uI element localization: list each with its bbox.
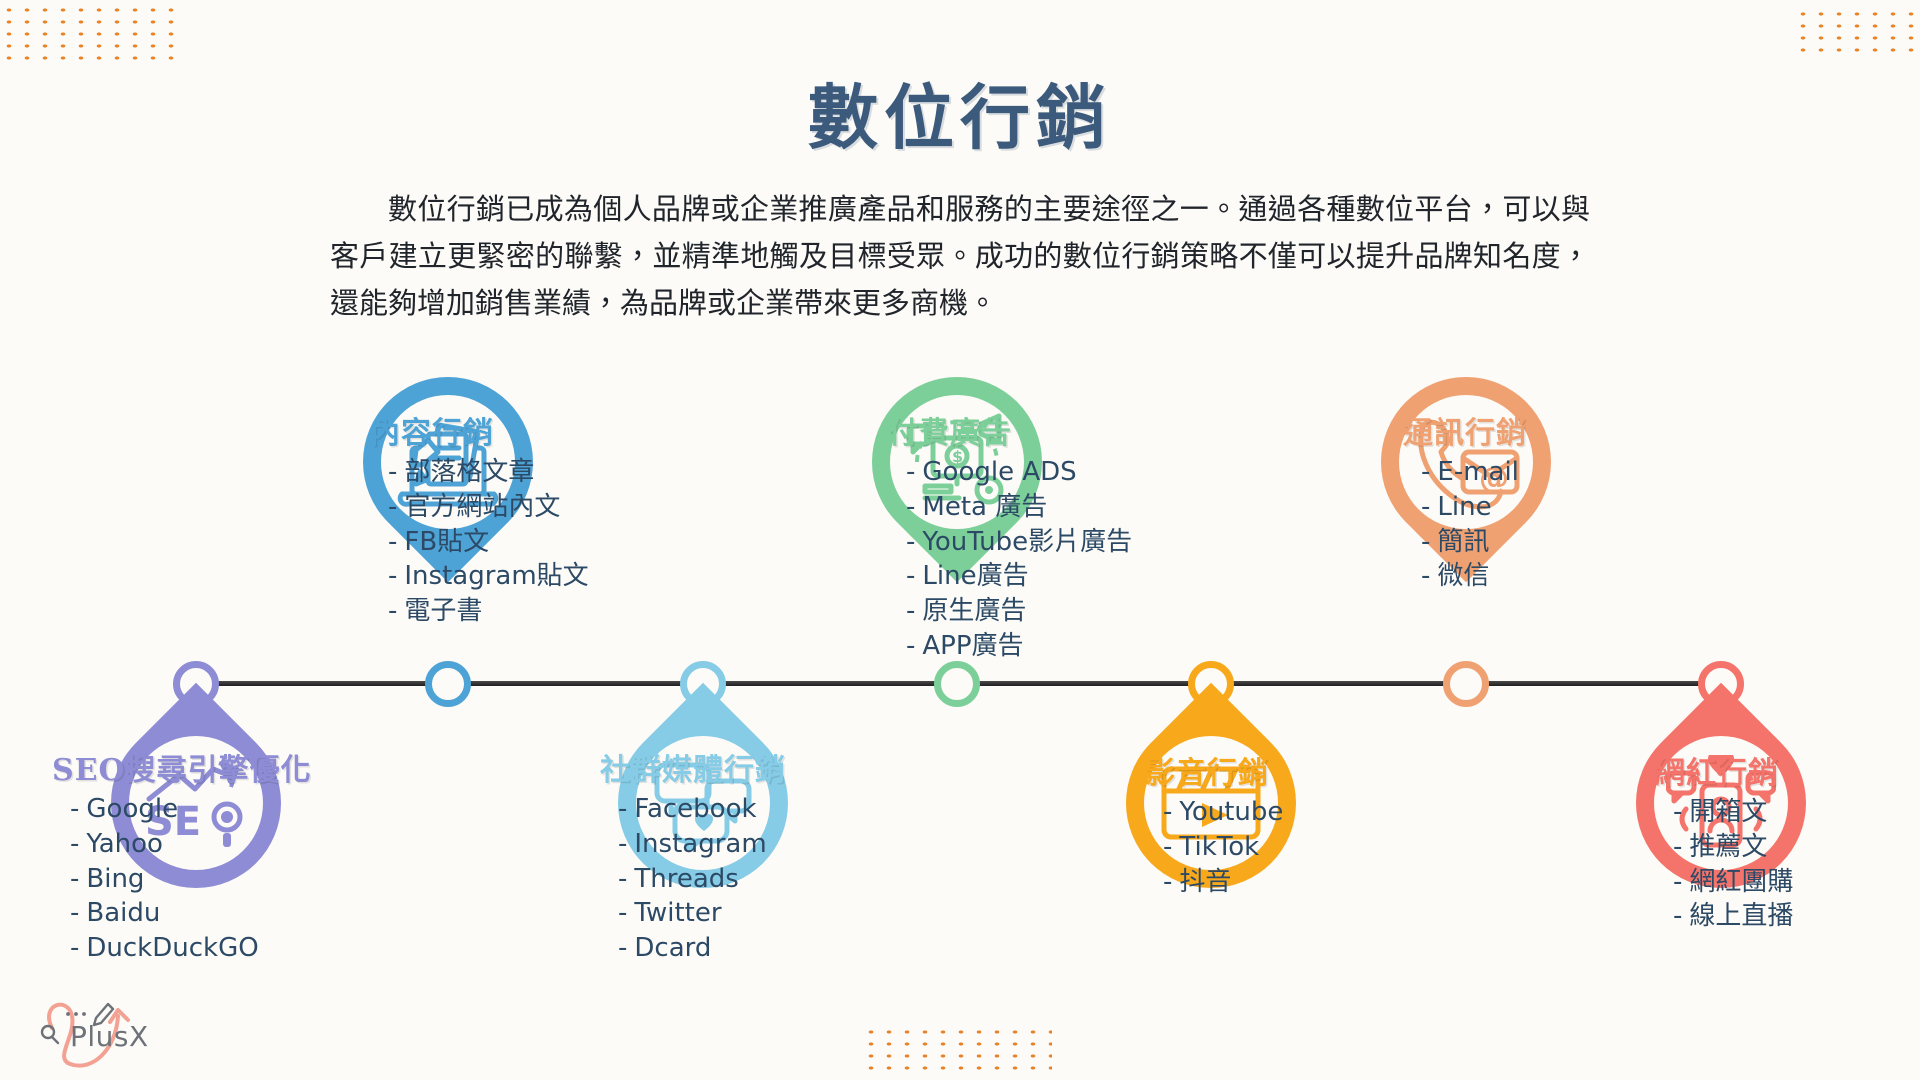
category-heading-content: 內容行銷 xyxy=(370,408,589,452)
list-item: -FB貼文 xyxy=(388,525,589,560)
list-bullet-dash-icon: - xyxy=(618,898,627,928)
infographic-canvas: 數位行銷 數位行銷已成為個人品牌或企業推廣產品和服務的主要途徑之一。通過各種數位… xyxy=(0,0,1920,1080)
list-bullet-dash-icon: - xyxy=(1421,561,1430,591)
list-item: -Youtube xyxy=(1163,795,1283,830)
list-item: -Bing xyxy=(70,862,312,897)
list-bullet-dash-icon: - xyxy=(618,933,627,963)
category-heading-messaging: 通訊行銷 xyxy=(1403,408,1527,452)
list-item-label: E-mail xyxy=(1437,457,1519,487)
logo-text: PlusX xyxy=(70,1020,149,1053)
list-item: -Baidu xyxy=(70,896,312,931)
list-item: -DuckDuckGO xyxy=(70,931,312,966)
list-bullet-dash-icon: - xyxy=(1163,832,1172,862)
list-bullet-dash-icon: - xyxy=(388,596,397,626)
list-bullet-dash-icon: - xyxy=(70,794,79,824)
list-item-label: TikTok xyxy=(1179,832,1259,862)
list-bullet-dash-icon: - xyxy=(70,933,79,963)
category-list-video: -Youtube-TikTok-抖音 xyxy=(1145,795,1283,899)
list-item: -E-mail xyxy=(1421,455,1527,490)
list-item: -Facebook xyxy=(618,792,786,827)
list-item-label: Bing xyxy=(86,864,144,894)
list-item: -Dcard xyxy=(618,931,786,966)
list-item-label: Facebook xyxy=(634,794,756,824)
category-block-messaging: 通訊行銷-E-mail-Line-簡訊-微信 xyxy=(1403,408,1527,594)
list-bullet-dash-icon: - xyxy=(906,561,915,591)
category-block-paid-ads: 付費廣告-Google ADS-Meta 廣告-YouTube影片廣告-Line… xyxy=(888,408,1132,664)
list-bullet-dash-icon: - xyxy=(906,527,915,557)
category-heading-social: 社群媒體行銷 xyxy=(600,745,786,789)
list-item-label: 微信 xyxy=(1437,561,1489,591)
list-item-label: 部落格文章 xyxy=(404,457,534,487)
list-item-label: FB貼文 xyxy=(404,527,489,557)
list-bullet-dash-icon: - xyxy=(388,492,397,522)
list-bullet-dash-icon: - xyxy=(1421,492,1430,522)
list-item-label: Yahoo xyxy=(86,829,163,859)
category-block-content: 內容行銷-部落格文章-官方網站內文-FB貼文-Instagram貼文-電子書 xyxy=(370,408,589,629)
list-item: -推薦文 xyxy=(1673,830,1793,865)
list-item: -抖音 xyxy=(1163,865,1283,900)
timeline-node-paid-ads[interactable] xyxy=(934,661,980,707)
list-bullet-dash-icon: - xyxy=(906,457,915,487)
list-bullet-dash-icon: - xyxy=(70,898,79,928)
list-bullet-dash-icon: - xyxy=(388,527,397,557)
list-item: -電子書 xyxy=(388,594,589,629)
list-item-label: Threads xyxy=(634,864,738,894)
list-item-label: Instagram xyxy=(634,829,766,859)
category-list-influencer: -開箱文-推薦文-網紅團購-線上直播 xyxy=(1655,795,1793,934)
list-item: -線上直播 xyxy=(1673,899,1793,934)
category-list-social: -Facebook-Instagram-Threads-Twitter-Dcar… xyxy=(600,792,786,966)
list-item: -Meta 廣告 xyxy=(906,490,1132,525)
list-item: -官方網站內文 xyxy=(388,490,589,525)
dot-pattern-top-left-icon xyxy=(0,4,186,64)
list-item-label: 電子書 xyxy=(404,596,482,626)
list-item-label: APP廣告 xyxy=(922,631,1023,661)
intro-paragraph: 數位行銷已成為個人品牌或企業推廣產品和服務的主要途徑之一。通過各種數位平台，可以… xyxy=(330,186,1590,327)
category-list-content: -部落格文章-官方網站內文-FB貼文-Instagram貼文-電子書 xyxy=(370,455,589,629)
list-item-label: Twitter xyxy=(634,898,721,928)
list-bullet-dash-icon: - xyxy=(1673,867,1682,897)
list-bullet-dash-icon: - xyxy=(618,864,627,894)
category-heading-seo: SEO搜尋引擎優化 xyxy=(52,745,312,789)
list-item: -Instagram xyxy=(618,827,786,862)
list-item: -Line廣告 xyxy=(906,559,1132,594)
category-block-social: 社群媒體行銷-Facebook-Instagram-Threads-Twitte… xyxy=(600,745,786,966)
list-item: -原生廣告 xyxy=(906,594,1132,629)
list-item: -開箱文 xyxy=(1673,795,1793,830)
list-bullet-dash-icon: - xyxy=(618,794,627,824)
list-item-label: Meta 廣告 xyxy=(922,492,1047,522)
list-bullet-dash-icon: - xyxy=(1163,867,1172,897)
list-item: -部落格文章 xyxy=(388,455,589,490)
list-bullet-dash-icon: - xyxy=(388,457,397,487)
list-item-label: Baidu xyxy=(86,898,160,928)
list-item-label: 開箱文 xyxy=(1689,797,1767,827)
list-bullet-dash-icon: - xyxy=(1673,832,1682,862)
list-item-label: YouTube影片廣告 xyxy=(922,527,1132,557)
list-item: -Line xyxy=(1421,490,1527,525)
list-bullet-dash-icon: - xyxy=(906,492,915,522)
list-bullet-dash-icon: - xyxy=(70,864,79,894)
list-bullet-dash-icon: - xyxy=(1673,901,1682,931)
category-heading-influencer: 網紅行銷 xyxy=(1655,748,1793,792)
category-heading-video: 影音行銷 xyxy=(1145,748,1283,792)
list-bullet-dash-icon: - xyxy=(618,829,627,859)
list-item: -Google xyxy=(70,792,312,827)
dot-pattern-top-right-icon xyxy=(1794,8,1914,60)
list-item: -Yahoo xyxy=(70,827,312,862)
list-item-label: 抖音 xyxy=(1179,867,1231,897)
category-block-video: 影音行銷-Youtube-TikTok-抖音 xyxy=(1145,748,1283,899)
list-item: -微信 xyxy=(1421,559,1527,594)
list-item-label: 網紅團購 xyxy=(1689,867,1793,897)
list-bullet-dash-icon: - xyxy=(1163,797,1172,827)
list-item: -Google ADS xyxy=(906,455,1132,490)
category-list-seo: -Google-Yahoo-Bing-Baidu-DuckDuckGO xyxy=(52,792,312,966)
category-list-messaging: -E-mail-Line-簡訊-微信 xyxy=(1403,455,1527,594)
list-bullet-dash-icon: - xyxy=(906,631,915,661)
plusx-logo: PlusX xyxy=(18,988,168,1074)
list-item: -YouTube影片廣告 xyxy=(906,525,1132,560)
list-item-label: Youtube xyxy=(1179,797,1283,827)
category-block-influencer: 網紅行銷-開箱文-推薦文-網紅團購-線上直播 xyxy=(1655,748,1793,934)
list-bullet-dash-icon: - xyxy=(906,596,915,626)
list-bullet-dash-icon: - xyxy=(70,829,79,859)
list-bullet-dash-icon: - xyxy=(1421,527,1430,557)
list-item: -網紅團購 xyxy=(1673,865,1793,900)
timeline-node-messaging[interactable] xyxy=(1443,661,1489,707)
list-item-label: Dcard xyxy=(634,933,711,963)
list-item-label: 簡訊 xyxy=(1437,527,1489,557)
list-item-label: 線上直播 xyxy=(1689,901,1793,931)
list-bullet-dash-icon: - xyxy=(1673,797,1682,827)
category-list-paid-ads: -Google ADS-Meta 廣告-YouTube影片廣告-Line廣告-原… xyxy=(888,455,1132,664)
list-item-label: 原生廣告 xyxy=(922,596,1026,626)
list-item-label: DuckDuckGO xyxy=(86,933,258,963)
dot-pattern-bottom-center-icon xyxy=(862,1026,1052,1070)
list-item: -簡訊 xyxy=(1421,525,1527,560)
intro-text: 數位行銷已成為個人品牌或企業推廣產品和服務的主要途徑之一。通過各種數位平台，可以… xyxy=(330,186,1590,327)
list-item: -TikTok xyxy=(1163,830,1283,865)
list-item-label: Instagram貼文 xyxy=(404,561,588,591)
list-item: -Threads xyxy=(618,862,786,897)
list-item-label: Line廣告 xyxy=(922,561,1028,591)
list-item: -Instagram貼文 xyxy=(388,559,589,594)
list-bullet-dash-icon: - xyxy=(1421,457,1430,487)
list-item: -APP廣告 xyxy=(906,629,1132,664)
list-item-label: Google xyxy=(86,794,178,824)
list-item-label: Google ADS xyxy=(922,457,1076,487)
list-item-label: 官方網站內文 xyxy=(404,492,560,522)
category-block-seo: SEO搜尋引擎優化-Google-Yahoo-Bing-Baidu-DuckDu… xyxy=(52,745,312,966)
list-item-label: Line xyxy=(1437,492,1491,522)
list-item: -Twitter xyxy=(618,896,786,931)
timeline-node-content[interactable] xyxy=(425,661,471,707)
category-heading-paid-ads: 付費廣告 xyxy=(888,408,1132,452)
list-item-label: 推薦文 xyxy=(1689,832,1767,862)
page-title: 數位行銷 xyxy=(0,62,1920,163)
list-bullet-dash-icon: - xyxy=(388,561,397,591)
